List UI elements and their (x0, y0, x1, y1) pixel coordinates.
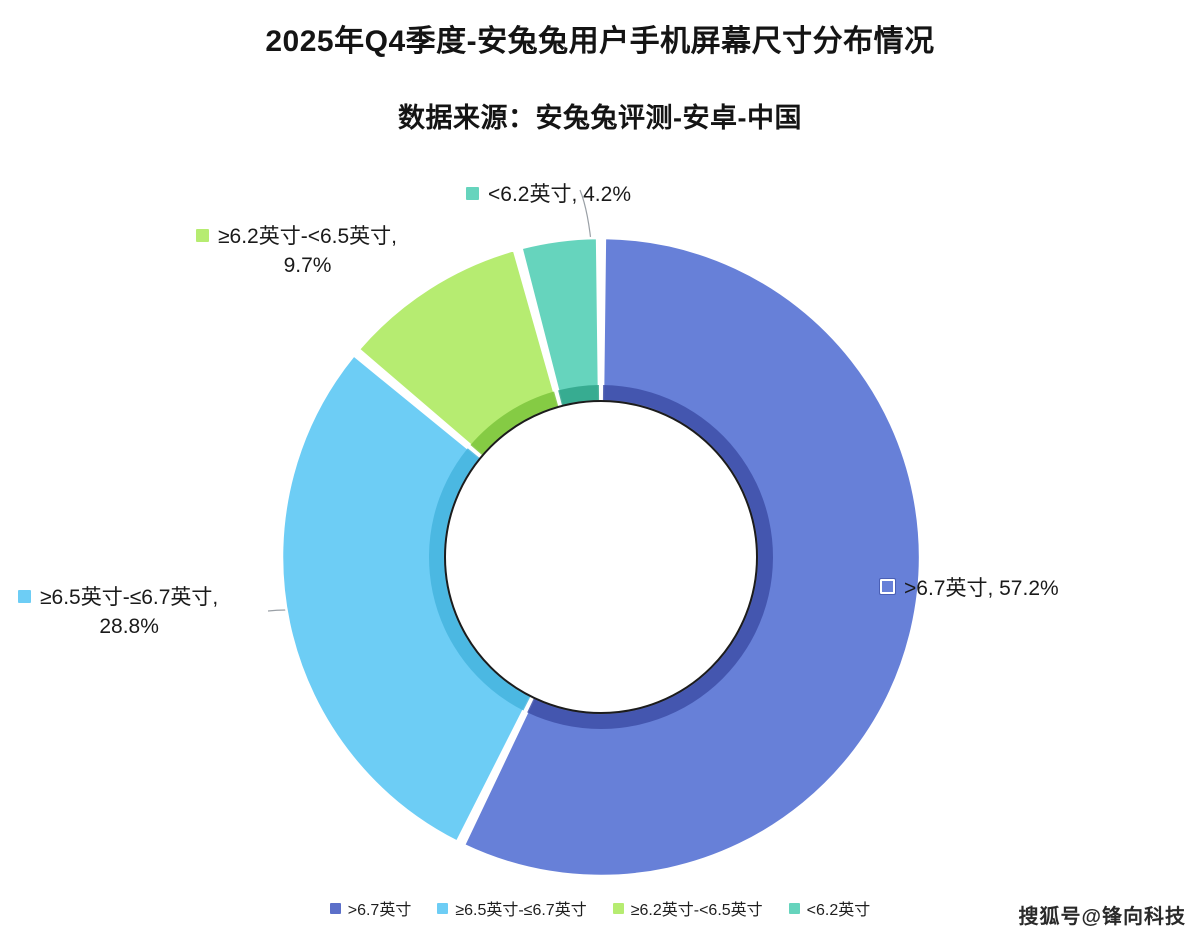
data-label-6-5-to-6-7: ≥6.5英寸-≤6.7英寸, 28.8% (18, 583, 218, 641)
swatch-lt-6-2 (466, 187, 479, 200)
data-label-6-2-to-6-5-text: ≥6.2英寸-<6.5英寸, (218, 222, 397, 251)
donut-chart (0, 0, 1200, 944)
chart-page: 2025年Q4季度-安兔兔用户手机屏幕尺寸分布情况 数据来源：安兔兔评测-安卓-… (0, 0, 1200, 944)
data-label-gt-6-7-text: >6.7英寸, 57.2% (904, 577, 1059, 600)
swatch-gt-6-7 (880, 579, 895, 594)
legend-swatch (437, 903, 448, 914)
data-label-6-5-to-6-7-text: ≥6.5英寸-≤6.7英寸, (40, 583, 218, 612)
swatch-6-2-to-6-5 (196, 229, 209, 242)
data-label-6-2-to-6-5: ≥6.2英寸-<6.5英寸, 9.7% (196, 222, 397, 280)
legend-item[interactable]: <6.2英寸 (789, 896, 871, 920)
legend-swatch (330, 903, 341, 914)
watermark: 搜狐号@锋向科技 (1018, 900, 1186, 929)
data-label-6-2-to-6-5-pct: 9.7% (218, 251, 397, 280)
legend-item[interactable]: ≥6.2英寸-<6.5英寸 (613, 896, 763, 920)
legend-item[interactable]: ≥6.5英寸-≤6.7英寸 (437, 896, 586, 920)
legend-label: <6.2英寸 (807, 896, 871, 920)
legend-label: ≥6.5英寸-≤6.7英寸 (455, 896, 586, 920)
donut-chart-svg (0, 0, 1200, 944)
data-label-lt-6-2: <6.2英寸, 4.2% (466, 180, 631, 209)
legend-label: >6.7英寸 (348, 896, 412, 920)
legend-label: ≥6.2英寸-<6.5英寸 (631, 896, 763, 920)
legend-swatch (789, 903, 800, 914)
data-label-6-5-to-6-7-pct: 28.8% (40, 612, 218, 641)
data-label-lt-6-2-text: <6.2英寸, 4.2% (488, 183, 631, 206)
swatch-6-5-to-6-7 (18, 590, 31, 603)
legend-item[interactable]: >6.7英寸 (330, 896, 412, 920)
legend-swatch (613, 903, 624, 914)
data-label-gt-6-7: >6.7英寸, 57.2% (880, 574, 1059, 603)
donut-hole (445, 401, 757, 713)
